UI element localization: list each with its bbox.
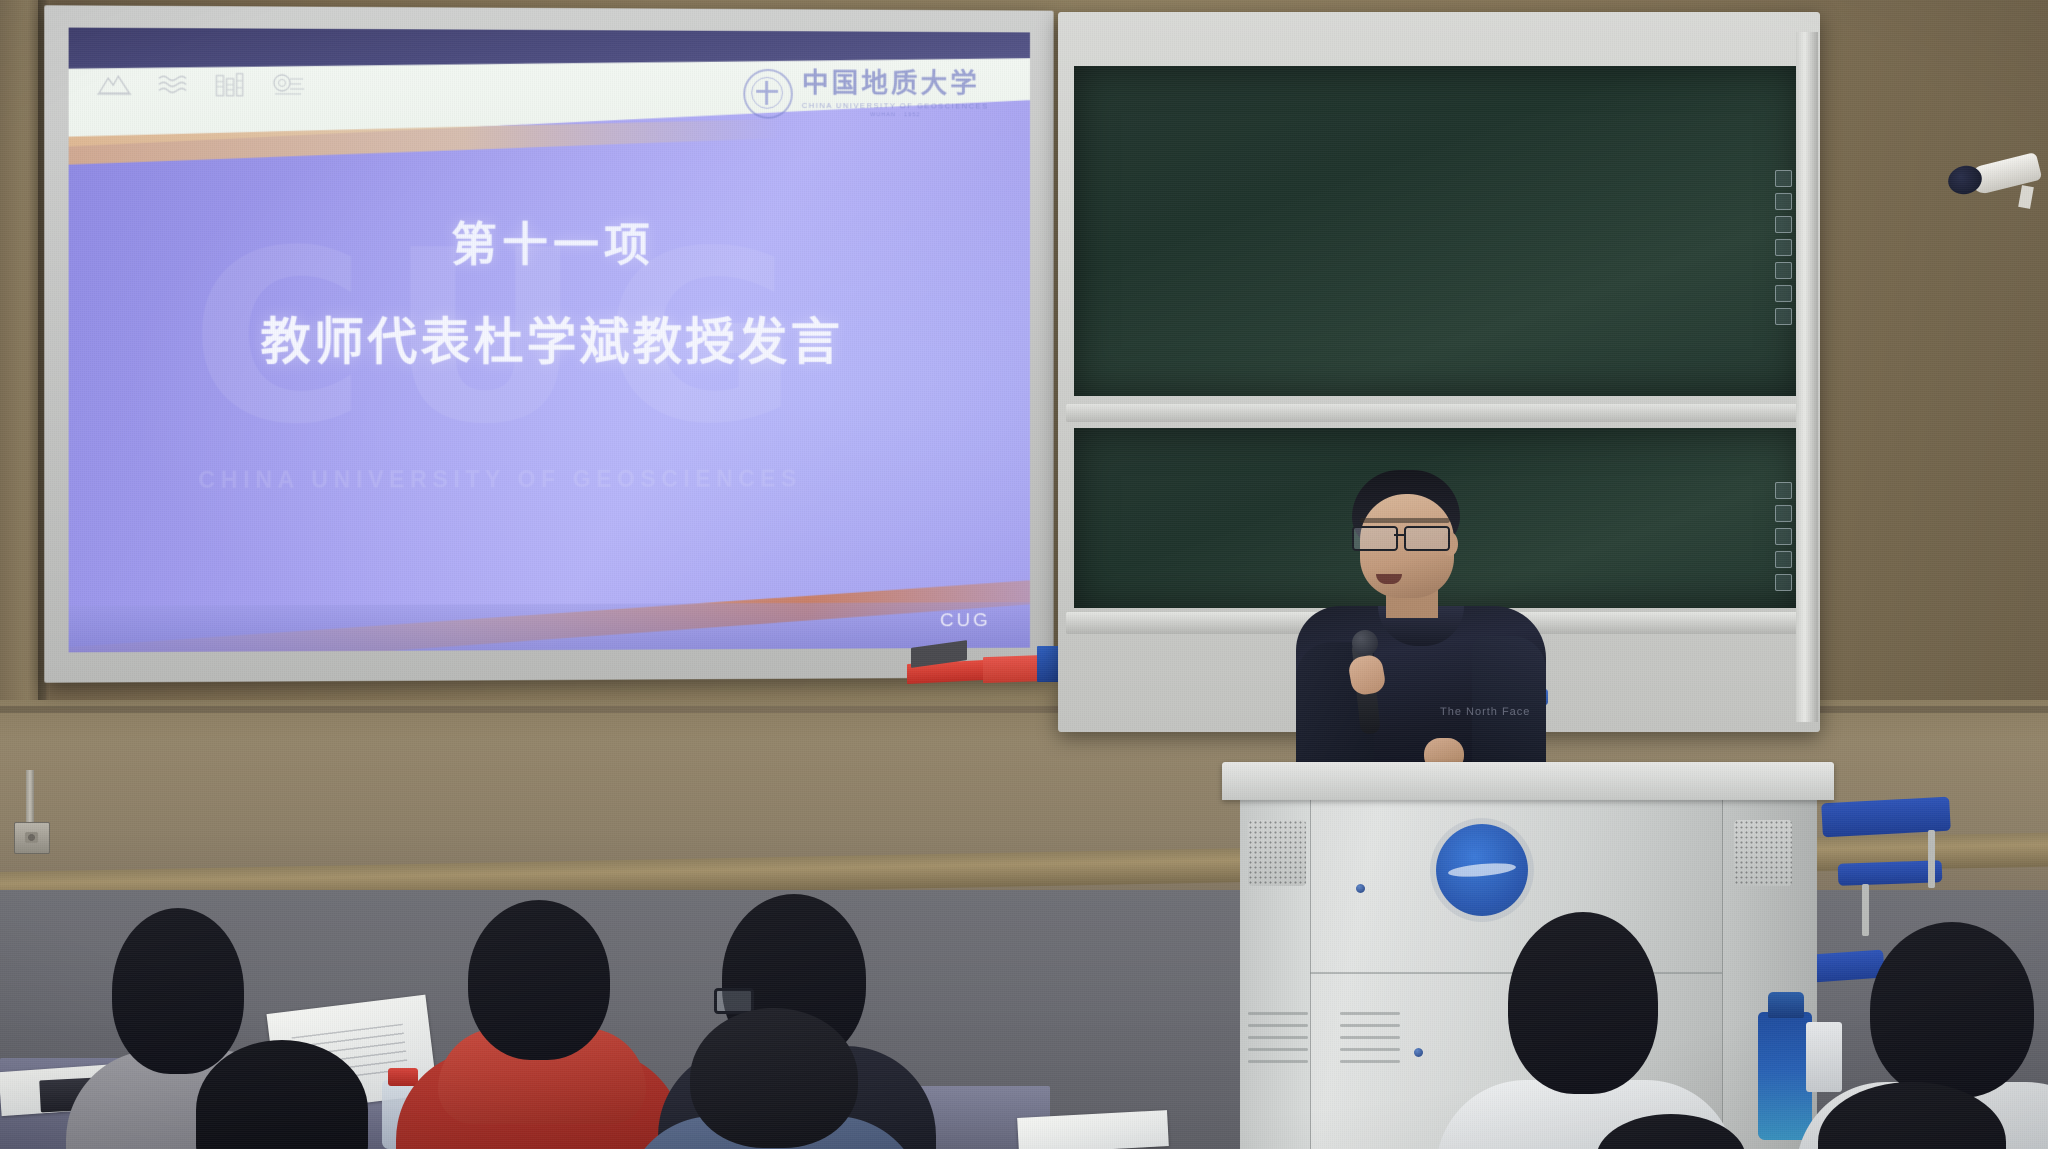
student-front-head bbox=[1596, 1114, 1746, 1149]
bottle-cap bbox=[1768, 992, 1804, 1018]
slide-corner-label: CUG bbox=[940, 610, 991, 632]
student-head bbox=[1870, 922, 2034, 1098]
lectern-louver bbox=[1248, 1012, 1308, 1015]
glasses-left-lens bbox=[1352, 526, 1398, 551]
student-red-hoodie bbox=[412, 900, 662, 1149]
lectern-lock-knob[interactable] bbox=[1414, 1048, 1423, 1057]
lectern-louver bbox=[1248, 1048, 1308, 1051]
lectern-louver bbox=[1340, 1024, 1400, 1027]
student-long-hair bbox=[178, 1040, 378, 1149]
board-button-icon[interactable] bbox=[1775, 308, 1792, 325]
lectern-indicator-light bbox=[1356, 884, 1365, 893]
cug-seal-icon bbox=[743, 69, 793, 119]
board-button-icon[interactable] bbox=[1775, 574, 1792, 591]
student-front-head bbox=[1818, 1082, 2008, 1149]
student-head bbox=[1508, 912, 1658, 1094]
board-button-icon[interactable] bbox=[1775, 170, 1792, 187]
board-button-icon[interactable] bbox=[1775, 551, 1792, 568]
lectern-louver bbox=[1340, 1012, 1400, 1015]
lectern-louver bbox=[1248, 1036, 1308, 1039]
student-head bbox=[1818, 1082, 2006, 1149]
chalkboard-control-buttons-upper[interactable] bbox=[1775, 170, 1792, 325]
chalkboard-right-rail bbox=[1796, 32, 1818, 722]
lectern-speaker-grille bbox=[1734, 820, 1792, 886]
lectern-louver bbox=[1340, 1060, 1400, 1063]
lectern-louver bbox=[1340, 1048, 1400, 1051]
jacket-brand-text: The North Face bbox=[1440, 706, 1530, 718]
board-button-icon[interactable] bbox=[1775, 262, 1792, 279]
microscope-icon bbox=[271, 73, 305, 97]
presenter-right-arm bbox=[1472, 636, 1546, 770]
glasses-right-lens bbox=[1404, 526, 1450, 551]
lecture-hall-photo: 中国地质大学 CHINA UNIVERSITY OF GEOSCIENCES W… bbox=[0, 0, 2048, 1149]
lectern-louver bbox=[1248, 1024, 1308, 1027]
board-button-icon[interactable] bbox=[1775, 239, 1792, 256]
eyeglasses-icon bbox=[1352, 526, 1464, 548]
slide-title-line1: 第十一项 bbox=[69, 207, 1030, 275]
student-head bbox=[1596, 1114, 1746, 1149]
board-button-icon[interactable] bbox=[1775, 482, 1792, 499]
strata-columns-icon bbox=[214, 73, 244, 97]
board-button-icon[interactable] bbox=[1775, 216, 1792, 233]
chalkboard-control-buttons-lower[interactable] bbox=[1775, 482, 1792, 591]
board-button-icon[interactable] bbox=[1775, 193, 1792, 210]
slide-title-line2: 教师代表杜学斌教授发言 bbox=[69, 302, 1030, 375]
board-button-icon[interactable] bbox=[1775, 528, 1792, 545]
board-button-icon[interactable] bbox=[1775, 285, 1792, 302]
lectern-louver bbox=[1248, 1060, 1308, 1063]
chair-leg bbox=[1928, 830, 1935, 888]
handout-paper bbox=[1017, 1110, 1169, 1149]
camera-mount bbox=[2018, 185, 2034, 209]
presenter: The North Face bbox=[1290, 470, 1550, 770]
logo-english-name: CHINA UNIVERSITY OF GEOSCIENCES bbox=[802, 101, 989, 111]
stacked-chair bbox=[1838, 860, 1943, 886]
slide-watermark-subtitle: CHINA UNIVERSITY OF GEOSCIENCES bbox=[198, 466, 802, 494]
mountain-icon bbox=[97, 73, 131, 95]
student-head bbox=[468, 900, 610, 1060]
slide-bottom-bar bbox=[69, 602, 1030, 652]
cug-podium-emblem bbox=[1436, 824, 1528, 916]
logo-chinese-name: 中国地质大学 bbox=[802, 70, 989, 98]
wall-power-outlet[interactable] bbox=[14, 822, 50, 854]
logo-english-sub: WUHAN · 1952 bbox=[802, 112, 989, 119]
board-button-icon[interactable] bbox=[1775, 505, 1792, 522]
water-bottle-blue bbox=[1758, 1012, 1812, 1140]
lectern-speaker-grille bbox=[1248, 820, 1306, 886]
chalkboard-mid-ledge bbox=[1066, 404, 1808, 422]
wall-conduit bbox=[26, 770, 34, 826]
slide-university-logo: 中国地质大学 CHINA UNIVERSITY OF GEOSCIENCES W… bbox=[743, 69, 988, 120]
slide-surface: 中国地质大学 CHINA UNIVERSITY OF GEOSCIENCES W… bbox=[69, 28, 1030, 653]
chalkboard-upper-panel bbox=[1074, 66, 1800, 396]
lectern-louver bbox=[1340, 1036, 1400, 1039]
projection-screen: 中国地质大学 CHINA UNIVERSITY OF GEOSCIENCES W… bbox=[44, 5, 1053, 682]
presenter-eyebrows bbox=[1360, 518, 1450, 523]
slide-header-icons bbox=[97, 72, 305, 97]
student-blue-shirt bbox=[640, 1008, 900, 1149]
student-head bbox=[690, 1008, 858, 1148]
waves-icon bbox=[158, 73, 188, 95]
lectern-top-surface bbox=[1222, 762, 1834, 800]
security-camera bbox=[1944, 150, 2040, 210]
student-head bbox=[196, 1040, 368, 1149]
